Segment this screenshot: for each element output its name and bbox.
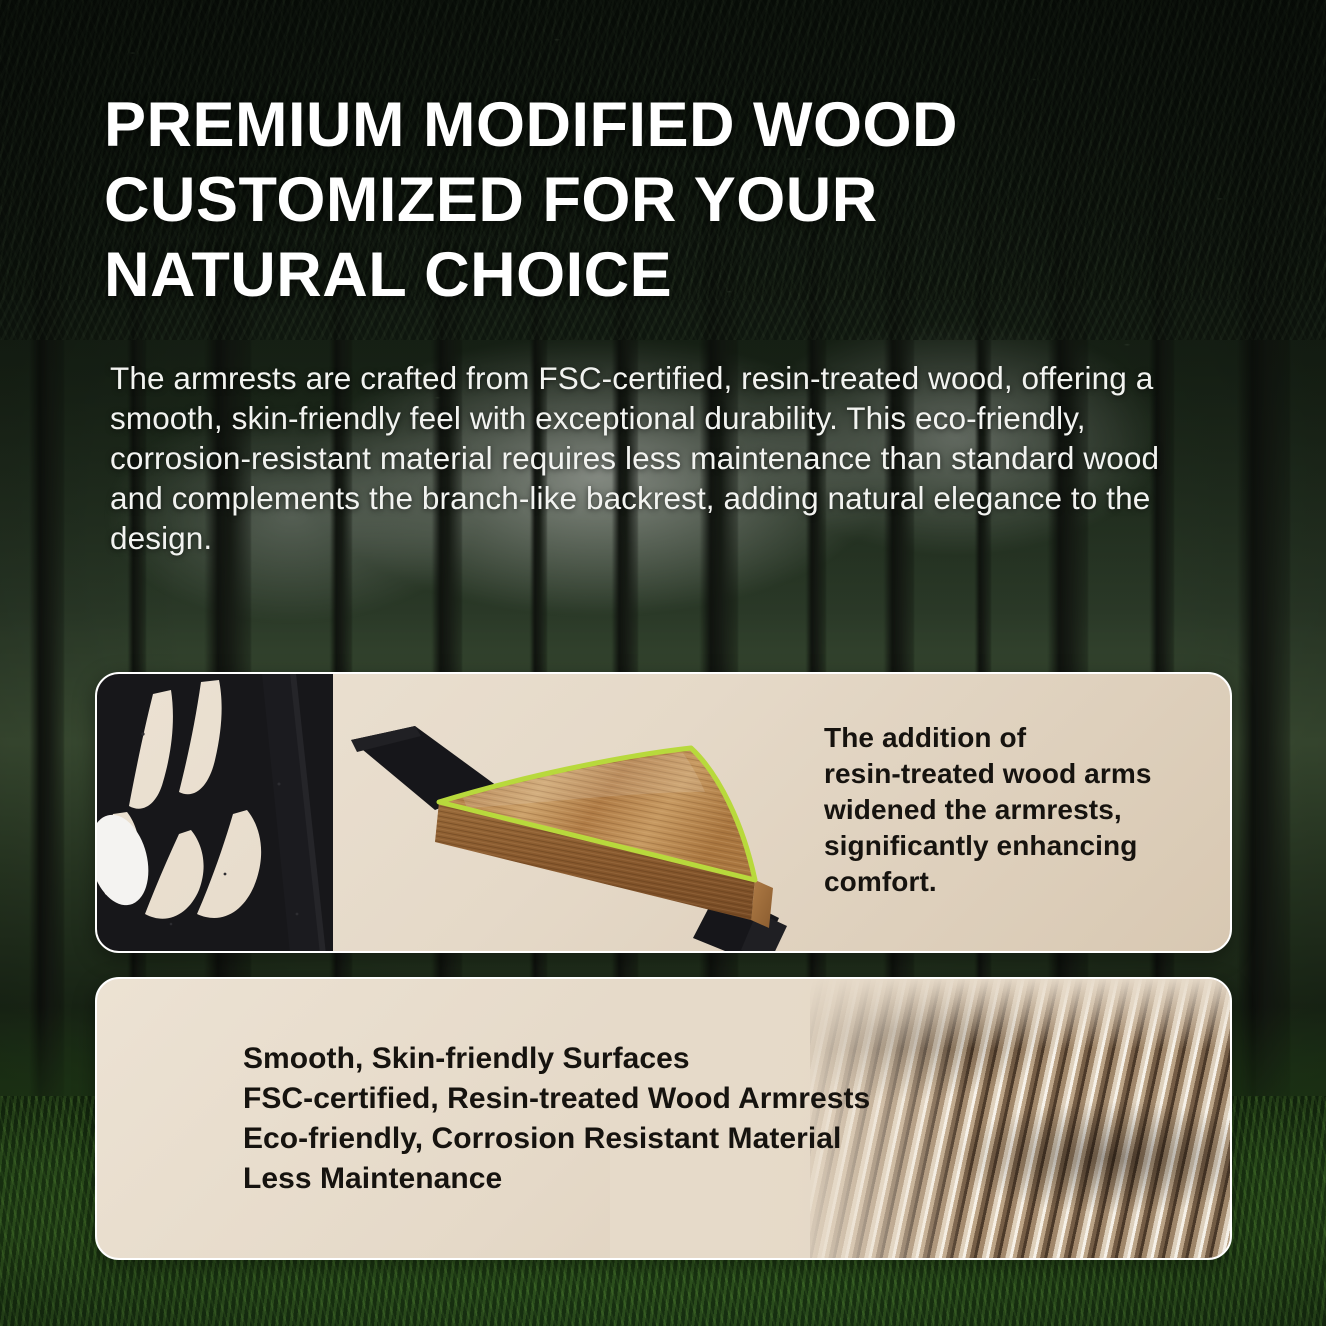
chair-closeup-image [97,674,837,951]
callout-line-1: The addition of [824,720,1224,756]
feature-list: Smooth, Skin-friendly Surfaces FSC-certi… [243,1039,943,1199]
features-card: Smooth, Skin-friendly Surfaces FSC-certi… [95,977,1232,1260]
callout-line-3: widened the armrests, [824,792,1224,828]
feature-item: FSC-certified, Resin-treated Wood Armres… [243,1079,943,1119]
page-content: PREMIUM MODIFIED WOOD CUSTOMIZED FOR YOU… [0,0,1326,1326]
callout-line-5: comfort. [824,864,1224,900]
callout-line-4: significantly enhancing [824,828,1224,864]
headline-line-1: PREMIUM MODIFIED WOOD [104,88,1114,163]
wood-armrest-graphic [287,674,847,953]
body-paragraph: The armrests are crafted from FSC-certif… [110,358,1185,558]
feature-item: Less Maintenance [243,1159,943,1199]
feature-item: Smooth, Skin-friendly Surfaces [243,1039,943,1079]
feature-item: Eco-friendly, Corrosion Resistant Materi… [243,1119,943,1159]
armrest-detail-card: The addition of resin-treated wood arms … [95,672,1232,953]
page-title: PREMIUM MODIFIED WOOD CUSTOMIZED FOR YOU… [104,88,1114,313]
armrest-callout-text: The addition of resin-treated wood arms … [824,720,1224,900]
callout-line-2: resin-treated wood arms [824,756,1224,792]
headline-line-3: NATURAL CHOICE [104,238,1114,313]
headline-line-2: CUSTOMIZED FOR YOUR [104,163,1114,238]
